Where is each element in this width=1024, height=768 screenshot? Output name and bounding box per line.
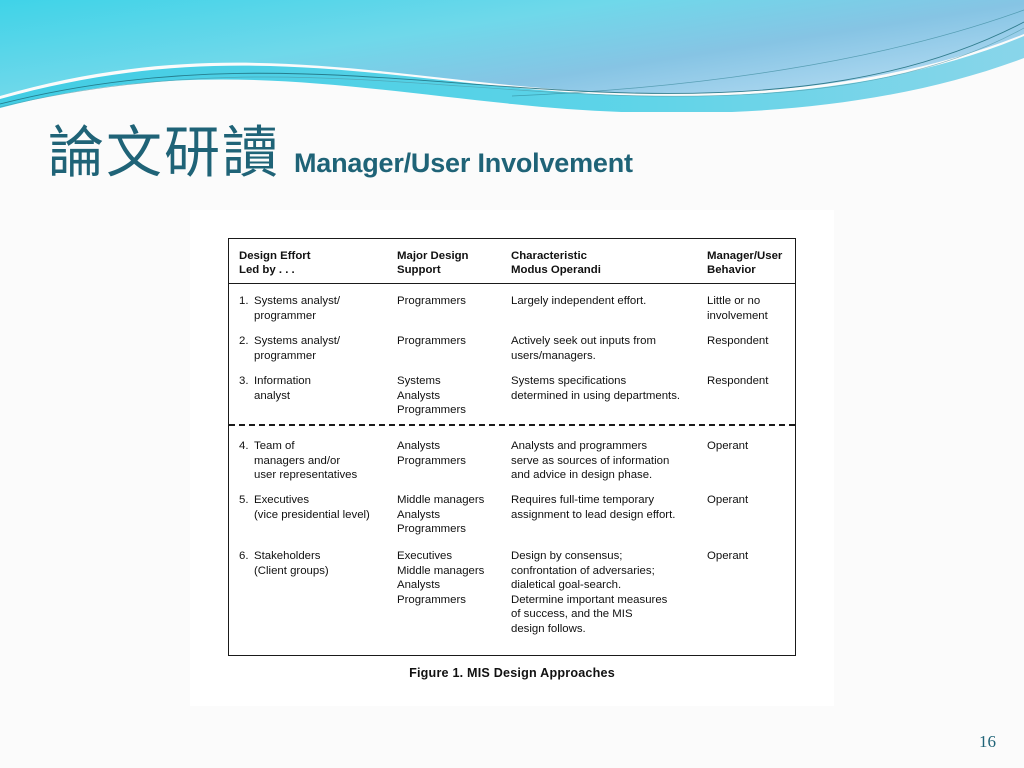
cell-design-effort: 5.Executives (vice presidential level): [239, 493, 397, 522]
cell-manager-user-behavior: Respondent: [707, 374, 793, 389]
figure-caption: Figure 1. MIS Design Approaches: [190, 666, 834, 680]
column-header-characteristic-modus-operandi: Characteristic Modus Operandi: [511, 249, 697, 277]
column-header-design-effort: Design Effort Led by . . .: [239, 249, 397, 277]
cell-design-effort: 3.Information analyst: [239, 374, 397, 403]
cell-modus-operandi: Actively seek out inputs from users/mana…: [511, 334, 697, 363]
column-header-major-design-support: Major Design Support: [397, 249, 509, 277]
figure-image-panel: Design Effort Led by . . . Major Design …: [190, 210, 834, 706]
cell-modus-operandi: Design by consensus; confrontation of ad…: [511, 549, 697, 637]
wave-graphic: [0, 0, 1024, 112]
cell-modus-operandi: Requires full-time temporary assignment …: [511, 493, 697, 522]
row-number: 4.: [239, 439, 254, 454]
table-row: 4.Team of managers and/or user represent…: [229, 439, 795, 493]
column-header-manager-user-behavior: Manager/User Behavior: [707, 249, 793, 277]
page-title-main: 論文研讀: [48, 126, 280, 182]
table-header-row: Design Effort Led by . . . Major Design …: [229, 249, 795, 283]
cell-modus-operandi: Systems specifications determined in usi…: [511, 374, 697, 403]
header-divider-rule: [229, 283, 795, 284]
row-number: 6.: [239, 549, 254, 564]
cell-modus-operandi: Largely independent effort.: [511, 294, 697, 309]
row-number: 5.: [239, 493, 254, 508]
table-row: 2.Systems analyst/ programmer Programmer…: [229, 334, 795, 374]
cell-manager-user-behavior: Operant: [707, 439, 793, 454]
table-row: 6.Stakeholders (Client groups) Executive…: [229, 549, 795, 645]
cell-manager-user-behavior: Operant: [707, 493, 793, 508]
group-separator-dashed-rule: [229, 424, 795, 426]
cell-major-design-support: Programmers: [397, 294, 509, 309]
table-row: 3.Information analyst Systems Analysts P…: [229, 374, 795, 424]
table-row: 1.Systems analyst/ programmer Programmer…: [229, 294, 795, 334]
table-row: 5.Executives (vice presidential level) M…: [229, 493, 795, 547]
row-number: 3.: [239, 374, 254, 389]
cell-design-effort: 2.Systems analyst/ programmer: [239, 334, 397, 363]
row-number: 2.: [239, 334, 254, 349]
page-title: 論文研讀 Manager/User Involvement: [48, 126, 633, 182]
cell-design-effort: 1.Systems analyst/ programmer: [239, 294, 397, 323]
row-number: 1.: [239, 294, 254, 309]
cell-manager-user-behavior: Little or no involvement: [707, 294, 793, 323]
cell-major-design-support: Programmers: [397, 334, 509, 349]
header-wave-banner: [0, 0, 1024, 112]
cell-design-effort: 6.Stakeholders (Client groups): [239, 549, 397, 578]
cell-modus-operandi: Analysts and programmers serve as source…: [511, 439, 697, 483]
cell-major-design-support: Executives Middle managers Analysts Prog…: [397, 549, 509, 607]
page-number: 16: [979, 732, 996, 752]
page-title-subtitle: Manager/User Involvement: [294, 150, 633, 177]
cell-major-design-support: Analysts Programmers: [397, 439, 509, 468]
cell-design-effort: 4.Team of managers and/or user represent…: [239, 439, 397, 483]
cell-manager-user-behavior: Operant: [707, 549, 793, 564]
mis-design-approaches-table: Design Effort Led by . . . Major Design …: [228, 238, 796, 656]
cell-manager-user-behavior: Respondent: [707, 334, 793, 349]
cell-major-design-support: Systems Analysts Programmers: [397, 374, 509, 418]
cell-major-design-support: Middle managers Analysts Programmers: [397, 493, 509, 537]
